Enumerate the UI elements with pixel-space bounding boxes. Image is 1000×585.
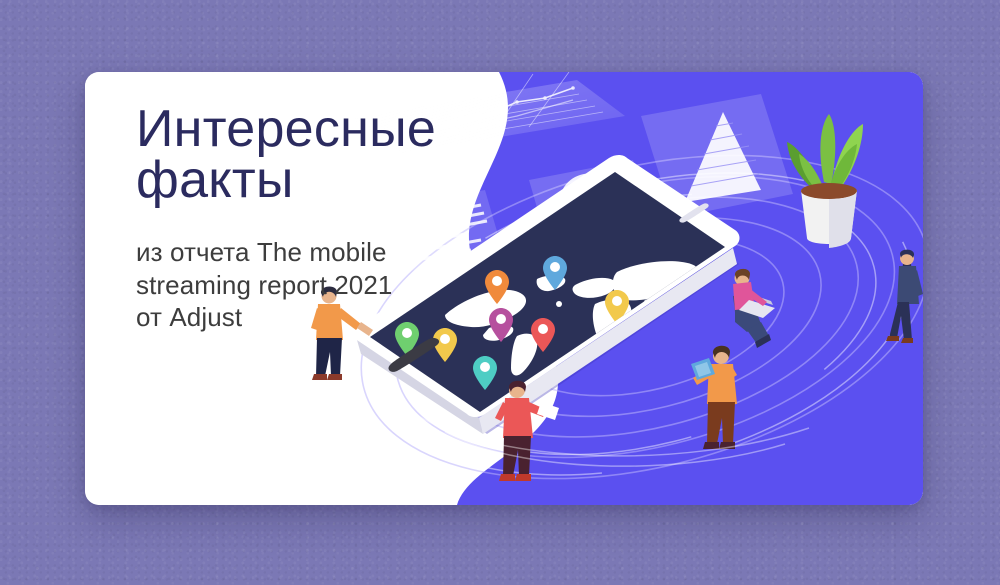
page-title: Интересные факты xyxy=(136,104,496,206)
page-subtitle: из отчета The mobile streaming report 20… xyxy=(136,236,496,334)
slide-text-block: Интересные факты из отчета The mobile st… xyxy=(136,104,496,334)
slide-card: Интересные факты из отчета The mobile st… xyxy=(85,72,923,505)
